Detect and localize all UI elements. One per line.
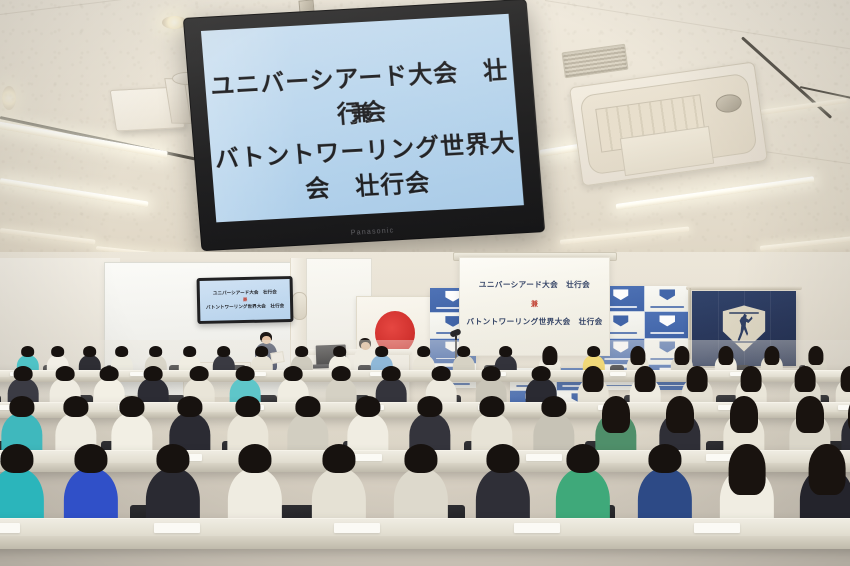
logo-wordmark: [650, 306, 684, 308]
shield-icon: [660, 315, 675, 326]
wall-monitor-conjunction: 兼: [243, 297, 248, 303]
audience-head: [718, 346, 733, 365]
audience-head: [674, 346, 689, 365]
university-shield-logo-icon: [613, 289, 628, 300]
handout-paper: [610, 372, 626, 376]
audience-head: [333, 346, 347, 357]
handout-paper: [154, 523, 200, 533]
audience-head: [796, 396, 824, 433]
audience-head: [764, 346, 779, 365]
audience-head: [295, 396, 320, 417]
audience-head: [687, 366, 708, 392]
wall-monitor-line2: バトントワーリング世界大会 壮行会: [206, 303, 284, 311]
handout-paper: [526, 454, 562, 461]
handout-paper: [514, 523, 560, 533]
desk-front-panel: [0, 377, 850, 382]
audience-head: [217, 346, 231, 357]
audience-head: [322, 444, 355, 473]
audience-head: [635, 366, 656, 392]
ceiling-fixture: [2, 86, 16, 110]
audience-head: [432, 366, 451, 381]
audience-head: [841, 366, 850, 392]
wall-monitor-screen: ユニバーシアード大会 壮行会 兼 バトントワーリング世界大会 壮行会: [200, 279, 291, 321]
audience-head: [100, 366, 119, 381]
audience-head: [417, 346, 431, 357]
audience-head: [486, 444, 519, 473]
audience-head: [404, 444, 437, 473]
audience-head: [255, 346, 269, 357]
ceiling-mounted-display: ユニバーシアード大会 壮行会 兼 バトントワーリング世界大会 壮行会 Panas…: [183, 0, 545, 251]
wall-fixture: [292, 292, 307, 320]
audience-head: [236, 366, 255, 381]
audience-head: [741, 366, 762, 392]
audience-head: [566, 444, 599, 473]
audience-head: [809, 444, 846, 495]
handout-paper: [0, 523, 20, 533]
audience-head: [499, 346, 513, 357]
audience-head: [587, 346, 601, 357]
backdrop-panel: [645, 312, 691, 337]
handout-paper: [694, 523, 740, 533]
audience-head: [144, 366, 163, 381]
audience-head: [457, 346, 471, 357]
audience-head: [729, 444, 766, 495]
shield-icon: [613, 315, 628, 326]
audience-head: [149, 346, 163, 357]
audience-head: [602, 396, 630, 433]
audience-head: [0, 444, 33, 473]
projection-conjunction: 兼: [460, 299, 609, 309]
projection-line1: ユニバーシアード大会 壮行会: [460, 279, 609, 290]
audience-head: [730, 396, 758, 433]
audience-head: [382, 366, 401, 381]
shield-icon: [660, 289, 675, 300]
audience-head: [238, 444, 271, 473]
audience-head: [355, 396, 380, 417]
flag-rod: [686, 286, 802, 290]
audience-head: [284, 366, 303, 381]
university-shield-logo-icon: [660, 289, 675, 300]
audience-head: [156, 444, 189, 473]
audience-head: [63, 396, 88, 417]
backdrop-panel: [645, 286, 691, 311]
audience-head: [190, 366, 209, 381]
university-shield-logo-icon: [613, 315, 628, 326]
audience-seating: [0, 340, 850, 566]
wall-monitor-line1: ユニバーシアード大会 壮行会: [213, 289, 277, 296]
handout-paper: [334, 523, 380, 533]
shield-icon: [613, 289, 628, 300]
audience-head: [235, 396, 260, 417]
audience-head: [51, 346, 65, 357]
lecture-hall-photo: ユニバーシアード大会 壮行会 兼 バトントワーリング世界大会 壮行会 Panas…: [0, 0, 850, 566]
audience-head: [795, 366, 816, 392]
audience-head: [808, 346, 823, 365]
desk-front-panel: [0, 536, 850, 549]
audience-head: [541, 396, 566, 417]
wall-monitor: ユニバーシアード大会 壮行会 兼 バトントワーリング世界大会 壮行会: [197, 276, 294, 324]
audience-head: [482, 366, 501, 381]
audience-head: [666, 396, 694, 433]
audience-head: [479, 396, 504, 417]
logo-wordmark: [650, 332, 684, 334]
audience-head: [177, 396, 202, 417]
audience-head: [542, 346, 557, 365]
lecture-desk: [0, 518, 850, 549]
audience-head: [9, 396, 34, 417]
projection-line2: バトントワーリング世界大会 壮行会: [460, 316, 609, 327]
audience-head: [532, 366, 551, 381]
audience-head: [183, 346, 197, 357]
university-shield-logo-icon: [660, 315, 675, 326]
audience-head: [115, 346, 129, 357]
audience-head: [74, 444, 107, 473]
audience-head: [21, 346, 35, 357]
audience-head: [83, 346, 97, 357]
lecture-desk: [0, 370, 850, 382]
audience-head: [14, 366, 33, 381]
audience-head: [583, 366, 604, 392]
audience-head: [119, 396, 144, 417]
audience-head: [417, 396, 442, 417]
audience-head: [648, 444, 681, 473]
audience-head: [295, 346, 309, 357]
audience-head: [630, 346, 645, 365]
audience-head: [332, 366, 351, 381]
monitor-screen: ユニバーシアード大会 壮行会 兼 バトントワーリング世界大会 壮行会: [201, 14, 524, 223]
audience-head: [375, 346, 389, 357]
audience-head: [56, 366, 75, 381]
